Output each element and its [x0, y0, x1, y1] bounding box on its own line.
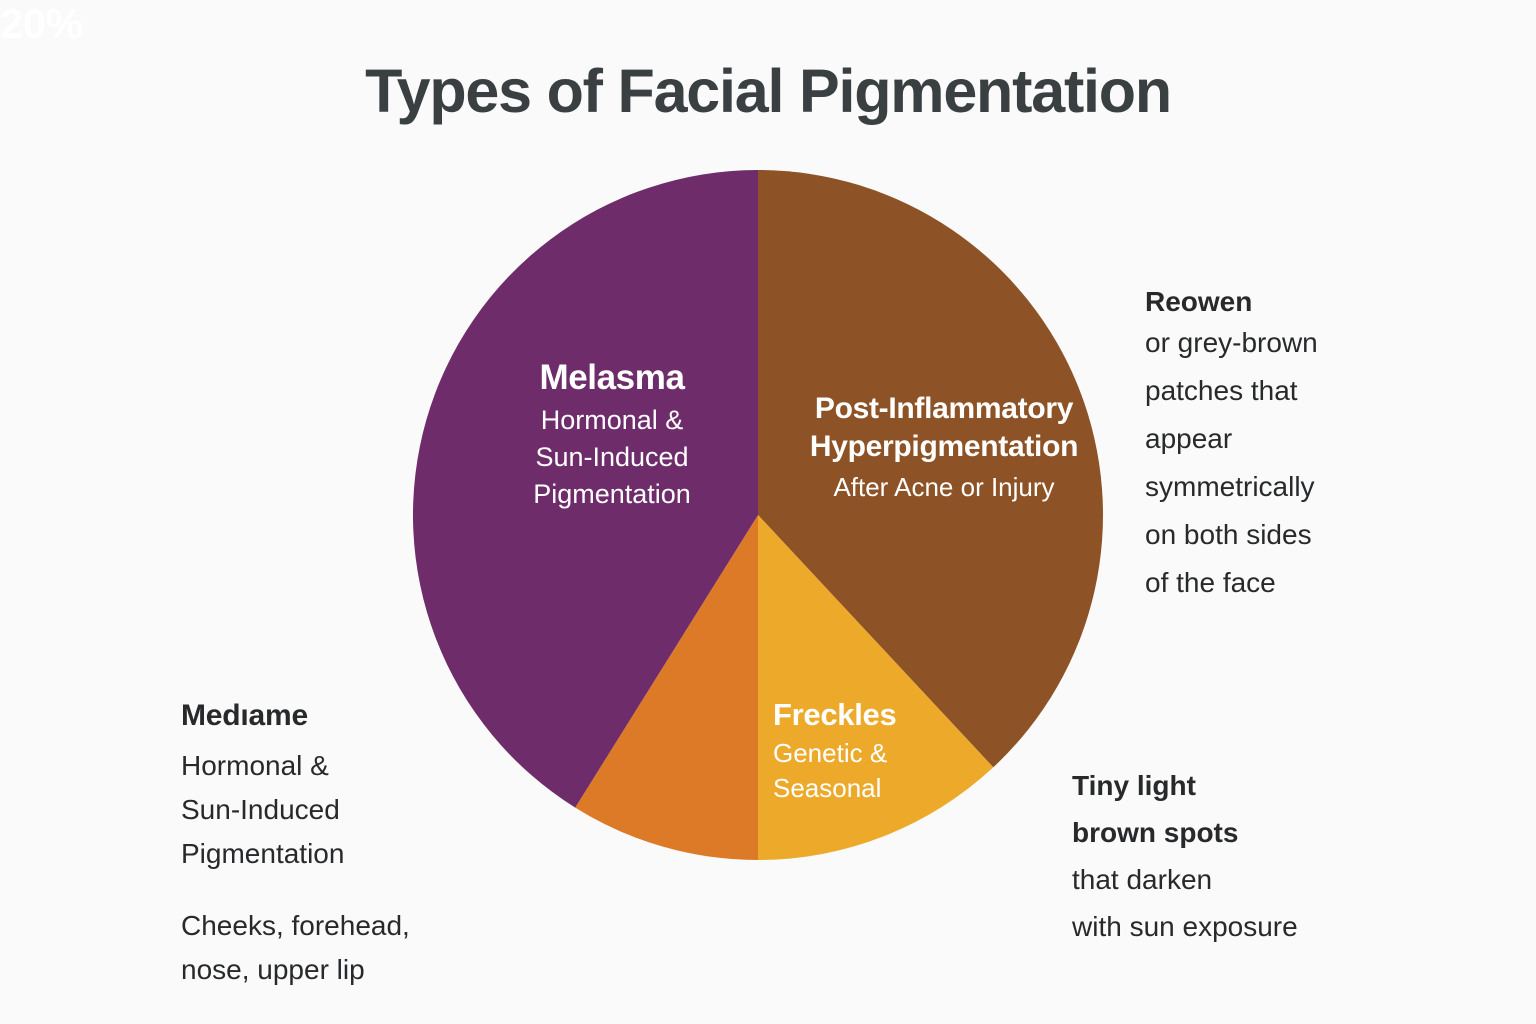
annotation-bottom-right-line-1: that darken — [1072, 856, 1392, 903]
annotation-left-line-3: Pigmentation — [181, 832, 481, 876]
annotation-right-line-5: on both sides — [1145, 511, 1407, 559]
annotation-left: Medıame Hormonal & Sun-Induced Pigmentat… — [181, 697, 481, 992]
infographic-canvas: Types of Facial Pigmentation Melasma Hor… — [0, 0, 1536, 1024]
pie-slice-label-post-inflammatory-hyperpigmentation: Post-Inflammatory Hyperpigmentation Afte… — [779, 390, 1109, 505]
pih-title-line-1: Post-Inflammatory — [779, 390, 1109, 428]
freckles-title: Freckles — [773, 697, 973, 733]
pie-chart — [413, 170, 1103, 860]
annotation-left-line-5: nose, upper lip — [181, 948, 481, 992]
melasma-subtitle-line-1: Hormonal & — [497, 402, 727, 439]
freckles-subtitle-line-2: Seasonal — [773, 771, 973, 806]
annotation-left-line-4: Cheeks, forehead, — [181, 904, 481, 948]
annotation-bottom-right-heading-line-1: Tiny light — [1072, 762, 1392, 809]
annotation-right-line-6: of the face — [1145, 559, 1407, 607]
melasma-subtitle-line-3: Pigmentation — [497, 476, 727, 513]
annotation-right-line-4: symmetrically — [1145, 463, 1407, 511]
annotation-right-line-3: appear — [1145, 415, 1407, 463]
pie-slice-label-melasma: Melasma Hormonal & Sun-Induced Pigmentat… — [497, 358, 727, 513]
page-title: Types of Facial Pigmentation — [0, 56, 1536, 126]
annotation-right-heading: Reowen — [1145, 285, 1407, 319]
annotation-right: Reowen or grey-brown patches that appear… — [1145, 285, 1407, 607]
pih-subtitle: After Acne or Injury — [779, 469, 1109, 505]
pie-slice-label-freckles: Freckles Genetic & Seasonal — [773, 697, 973, 806]
annotation-bottom-right-heading-line-2: brown spots — [1072, 809, 1392, 856]
pih-title-line-2: Hyperpigmentation — [779, 428, 1109, 466]
annotation-right-line-2: patches that — [1145, 367, 1407, 415]
freckles-subtitle-line-1: Genetic & — [773, 736, 973, 771]
annotation-left-heading: Medıame — [181, 697, 481, 735]
pie-chart-svg — [413, 170, 1103, 860]
annotation-bottom-right-line-2: with sun exposure — [1072, 903, 1392, 950]
pie-slice-value-label-20-percent: 20% — [0, 0, 1536, 48]
annotation-bottom-right: Tiny light brown spots that darken with … — [1072, 762, 1392, 950]
melasma-title: Melasma — [497, 358, 727, 398]
melasma-subtitle-line-2: Sun-Induced — [497, 439, 727, 476]
annotation-right-line-1: or grey-brown — [1145, 319, 1407, 367]
annotation-left-line-1: Hormonal & — [181, 744, 481, 788]
annotation-left-line-2: Sun-Induced — [181, 788, 481, 832]
